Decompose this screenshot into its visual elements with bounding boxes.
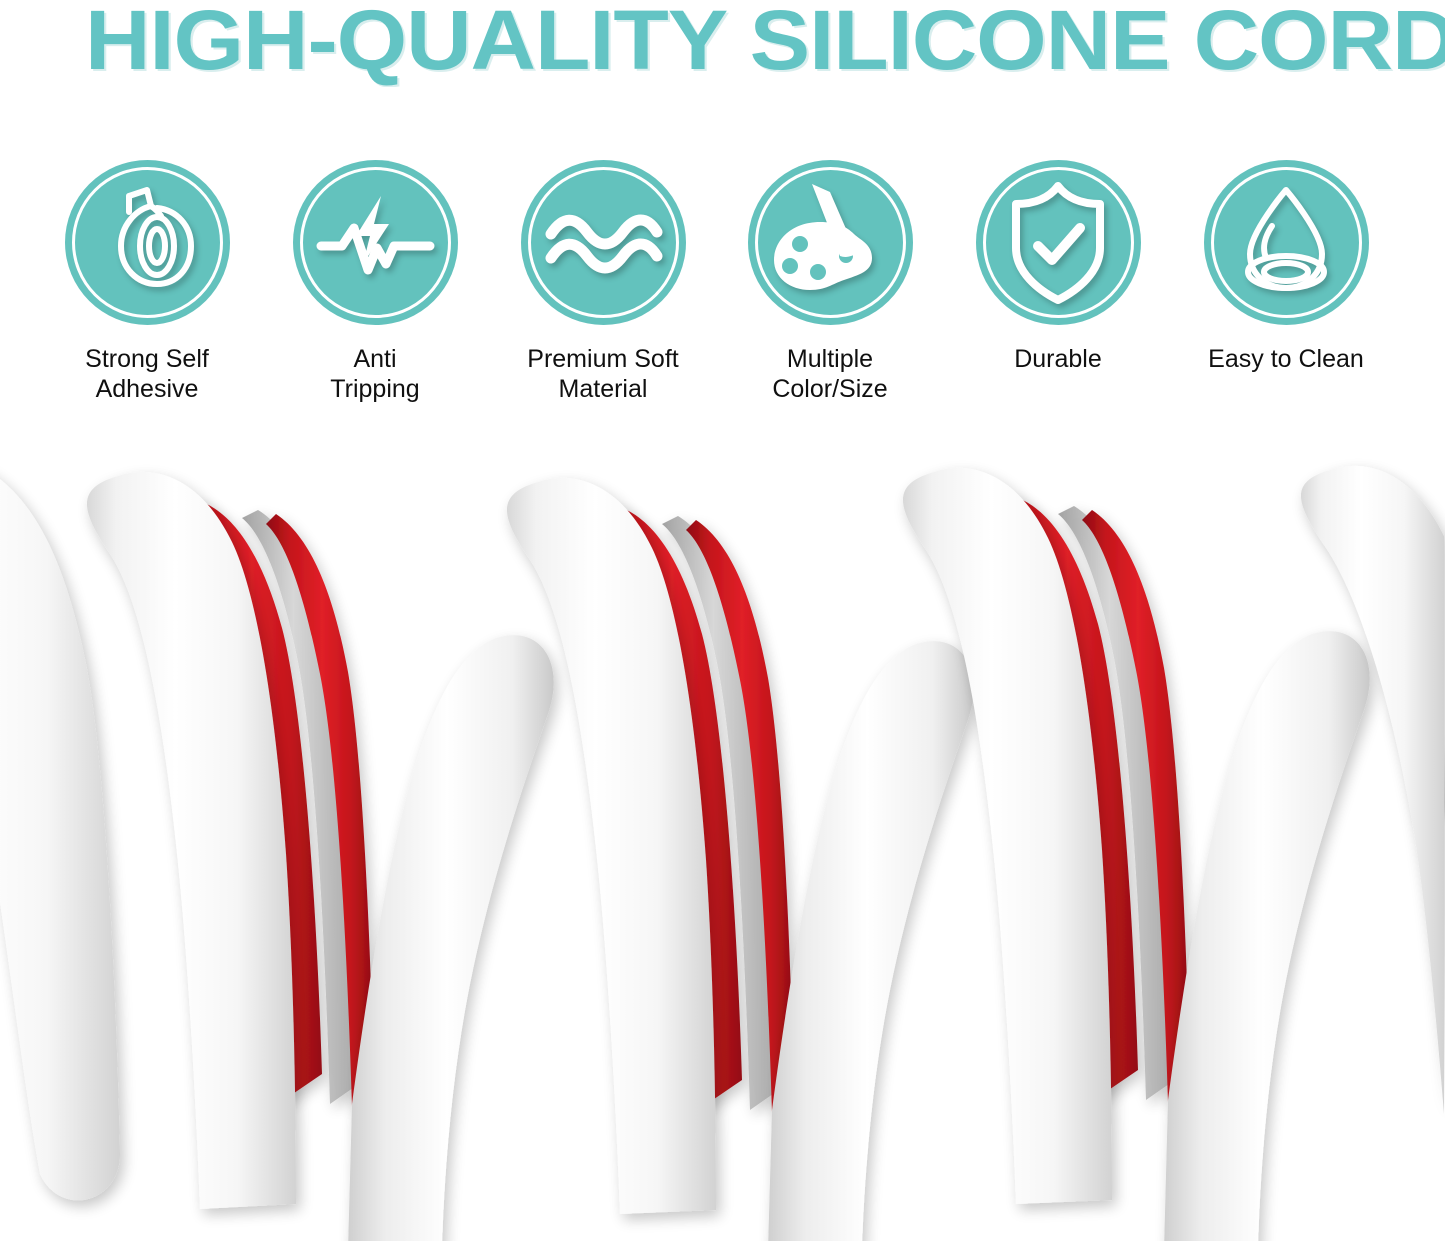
- feature-item-durable[interactable]: Durable: [942, 160, 1174, 374]
- feature-badge-circle: [748, 160, 913, 325]
- product-image-silicone-cord-cover: [0, 414, 1445, 1241]
- feature-caption-line2: Adhesive: [96, 375, 199, 403]
- product-coil-illustration: [0, 414, 1445, 1241]
- feature-caption-line1: Anti: [353, 345, 396, 373]
- feature-caption: Premium Soft Material: [487, 344, 719, 404]
- feature-badge-circle: [1204, 160, 1369, 325]
- wavy-lines-icon: [521, 160, 686, 325]
- lightning-pulse-icon: [293, 160, 458, 325]
- page-title: HIGH-QUALITY SILICONE CORD COVER: [85, 0, 1445, 82]
- feature-caption-line1: Easy to Clean: [1208, 345, 1364, 373]
- feature-item-anti-tripping[interactable]: Anti Tripping: [259, 160, 491, 404]
- feature-badge-circle: [65, 160, 230, 325]
- feature-badge-circle: [976, 160, 1141, 325]
- feature-item-strong-self-adhesive[interactable]: Strong Self Adhesive: [31, 160, 263, 404]
- feature-caption-line2: Material: [559, 375, 648, 403]
- feature-item-premium-soft-material[interactable]: Premium Soft Material: [487, 160, 719, 404]
- feature-caption: Multiple Color/Size: [714, 344, 946, 404]
- shield-check-icon: [976, 160, 1141, 325]
- feature-caption-line1: Multiple: [787, 345, 873, 373]
- feature-caption: Easy to Clean: [1170, 344, 1402, 374]
- feature-caption-line1: Premium Soft: [527, 345, 678, 373]
- adhesive-roll-icon: [65, 160, 230, 325]
- feature-caption: Durable: [942, 344, 1174, 374]
- water-drop-ripple-icon: [1204, 160, 1369, 325]
- paint-palette-icon: [748, 160, 913, 325]
- feature-caption: Strong Self Adhesive: [31, 344, 263, 404]
- feature-caption-line1: Strong Self: [85, 345, 209, 373]
- feature-badge-circle: [293, 160, 458, 325]
- feature-caption-line1: Durable: [1014, 345, 1102, 373]
- feature-caption-line2: Tripping: [330, 375, 419, 403]
- title-bar: HIGH-QUALITY SILICONE CORD COVER: [0, 0, 1445, 92]
- feature-item-easy-to-clean[interactable]: Easy to Clean: [1170, 160, 1402, 374]
- feature-badge-row: Strong Self Adhesive Anti Tripping: [0, 160, 1445, 410]
- feature-badge-circle: [521, 160, 686, 325]
- feature-item-multiple-color-size[interactable]: Multiple Color/Size: [714, 160, 946, 404]
- feature-caption: Anti Tripping: [259, 344, 491, 404]
- feature-caption-line2: Color/Size: [772, 375, 887, 403]
